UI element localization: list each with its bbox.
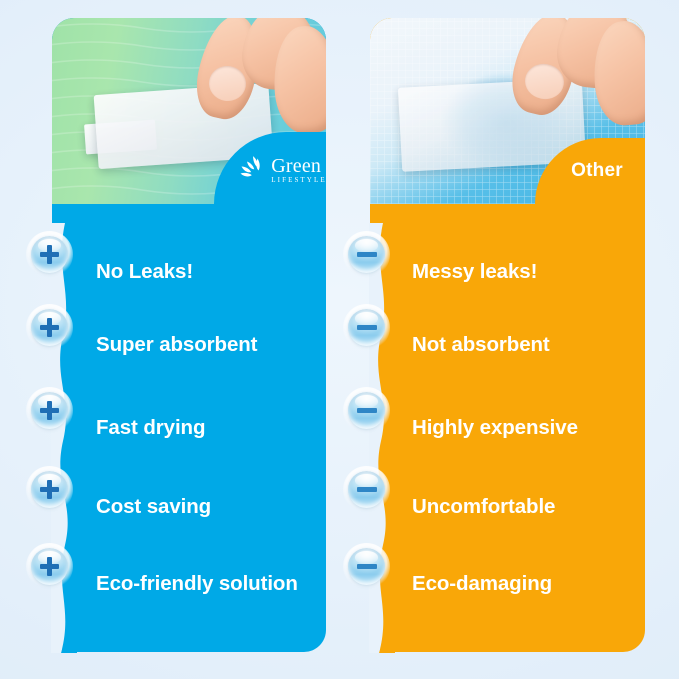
leaf-icon <box>235 153 269 187</box>
plus-icon <box>31 309 68 346</box>
feature-label: Not absorbent <box>412 333 550 357</box>
brand-tagline: LIFESTYLE <box>271 177 326 184</box>
minus-icon <box>348 309 385 346</box>
feature-label: Super absorbent <box>96 333 257 357</box>
panel-green-lifestyle: Green LIFESTYLE No Leaks! Super absorben… <box>52 18 326 652</box>
brand-lockup: Green LIFESTYLE <box>235 153 326 187</box>
product-photo-green-lifestyle: Green LIFESTYLE <box>52 18 326 204</box>
panel-other: Other Messy leaks! Not absorbent Highly … <box>370 18 645 652</box>
feature-row: No Leaks! <box>52 250 326 294</box>
feature-label: Fast drying <box>96 416 205 440</box>
feature-label: Highly expensive <box>412 416 578 440</box>
feature-row: Not absorbent <box>370 323 645 367</box>
feature-row: Fast drying <box>52 406 326 450</box>
other-label: Other <box>571 160 623 182</box>
feature-row: Uncomfortable <box>370 485 645 529</box>
comparison-infographic: Green LIFESTYLE No Leaks! Super absorben… <box>0 0 679 679</box>
plus-icon <box>31 548 68 585</box>
minus-icon <box>348 236 385 273</box>
brand-name: Green <box>271 156 321 176</box>
product-photo-other: Other <box>370 18 645 204</box>
plus-icon <box>31 471 68 508</box>
minus-icon <box>348 471 385 508</box>
hand-holding-wipe <box>194 18 326 141</box>
feature-row: Messy leaks! <box>370 250 645 294</box>
feature-label: Eco-damaging <box>412 572 552 596</box>
feature-list-bad: Messy leaks! Not absorbent Highly expens… <box>370 204 645 652</box>
feature-label: Cost saving <box>96 495 211 519</box>
feature-label: No Leaks! <box>96 260 193 284</box>
feature-label: Messy leaks! <box>412 260 537 284</box>
minus-icon <box>348 392 385 429</box>
minus-icon <box>348 548 385 585</box>
feature-row: Super absorbent <box>52 323 326 367</box>
hand-holding-wipe <box>508 18 646 133</box>
feature-row: Eco-friendly solution <box>52 562 326 606</box>
feature-row: Cost saving <box>52 485 326 529</box>
feature-row: Eco-damaging <box>370 562 645 606</box>
feature-label: Uncomfortable <box>412 495 555 519</box>
plus-icon <box>31 236 68 273</box>
feature-list-good: No Leaks! Super absorbent Fast drying Co… <box>52 204 326 652</box>
plus-icon <box>31 392 68 429</box>
feature-label: Eco-friendly solution <box>96 572 298 596</box>
feature-row: Highly expensive <box>370 406 645 450</box>
